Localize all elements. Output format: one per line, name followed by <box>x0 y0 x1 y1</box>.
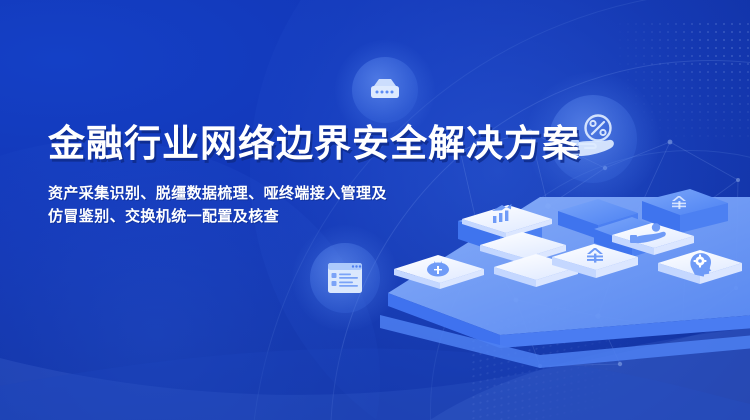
document-window-icon <box>326 261 364 295</box>
subtitle-line-2: 仿冒鉴别、交换机统一配置及核查 <box>48 205 387 228</box>
isometric-platform <box>380 185 750 370</box>
finance-security-banner: 金融行业网络边界安全解决方案 资产采集识别、脱缰数据梳理、哑终端接入管理及 仿冒… <box>0 0 750 420</box>
subtitle-line-1: 资产采集识别、脱缰数据梳理、哑终端接入管理及 <box>48 182 387 205</box>
badge-router <box>352 57 418 123</box>
page-subtitle: 资产采集识别、脱缰数据梳理、哑终端接入管理及 仿冒鉴别、交换机统一配置及核查 <box>48 182 387 228</box>
page-title: 金融行业网络边界安全解决方案 <box>48 122 580 166</box>
badge-document <box>310 243 380 313</box>
router-icon <box>367 75 403 105</box>
